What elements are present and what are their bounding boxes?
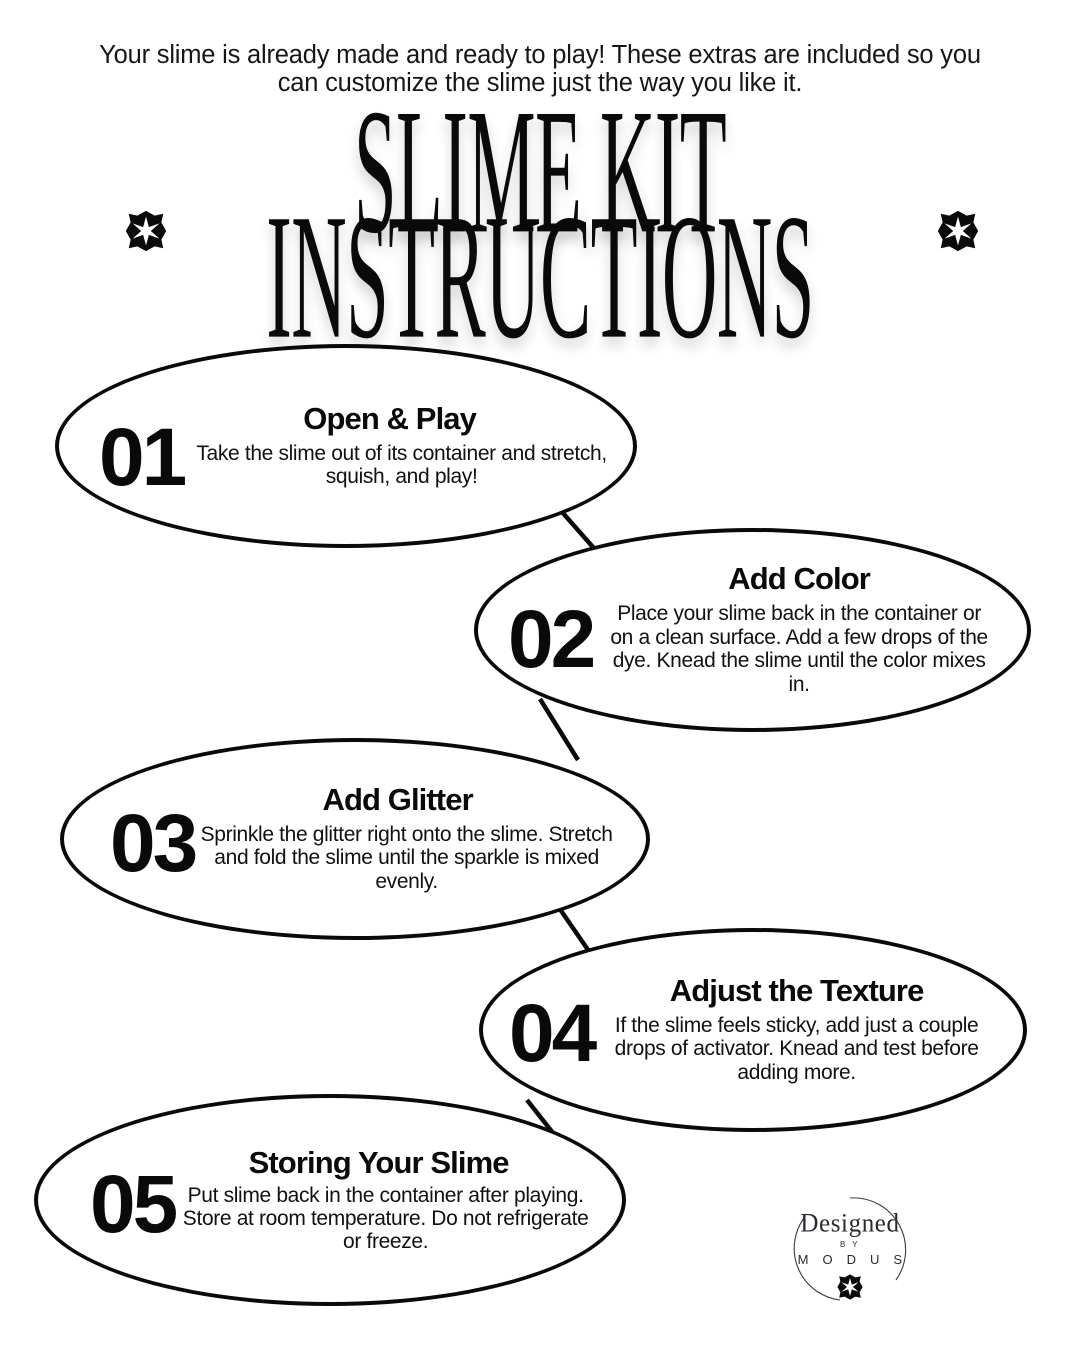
ornament-star-cross-icon [122,207,170,255]
page-title-line-2: INSTRUCTIONS [216,205,864,348]
page-title: SLIME KIT INSTRUCTIONS [0,104,1080,308]
step-description: If the slime feels sticky, add just a co… [602,1014,991,1085]
logo-brand-text: M O D U S [778,1252,922,1267]
step-content: 05 Storing Your Slime Put slime back in … [34,1094,626,1306]
step-card-1[interactable]: 01 Open & Play Take the slime out of its… [55,344,637,548]
step-title: Adjust the Texture [602,975,991,1008]
step-description: Sprinkle the glitter right onto the slim… [197,823,616,894]
logo-by-text: B Y [778,1240,922,1249]
step-text: Add Color Place your slime back in the c… [593,563,1005,696]
step-description: Take the slime out of its container and … [190,442,613,489]
step-title: Storing Your Slime [163,1147,594,1180]
logo-designed-text: Designed [778,1209,922,1238]
step-description: Put slime back in the container after pl… [177,1185,594,1253]
step-number: 04 [509,997,594,1071]
step-content: 01 Open & Play Take the slime out of its… [55,344,637,548]
step-text: Open & Play Take the slime out of its co… [184,403,623,489]
ornament-star-cross-icon [934,207,982,255]
step-card-5[interactable]: 05 Storing Your Slime Put slime back in … [34,1094,626,1306]
step-card-2[interactable]: 02 Add Color Place your slime back in th… [474,528,1031,732]
step-text: Adjust the Texture If the slime feels st… [594,975,1001,1085]
step-title: Add Color [603,563,995,596]
step-card-3[interactable]: 03 Add Glitter Sprinkle the glitter righ… [60,738,650,940]
step-content: 02 Add Color Place your slime back in th… [474,528,1031,732]
step-content: 03 Add Glitter Sprinkle the glitter righ… [60,738,650,940]
designed-by-modus-logo: Designed B Y M O D U S [778,1182,922,1308]
ornament-star-cross-icon [835,1272,865,1302]
step-title: Add Glitter [179,784,616,817]
step-number: 02 [508,603,593,677]
step-title: Open & Play [166,403,613,436]
step-text: Storing Your Slime Put slime back in the… [175,1147,604,1254]
step-text: Add Glitter Sprinkle the glitter right o… [195,784,626,894]
step-description: Place your slime back in the container o… [603,602,995,697]
step-number: 03 [110,807,195,881]
